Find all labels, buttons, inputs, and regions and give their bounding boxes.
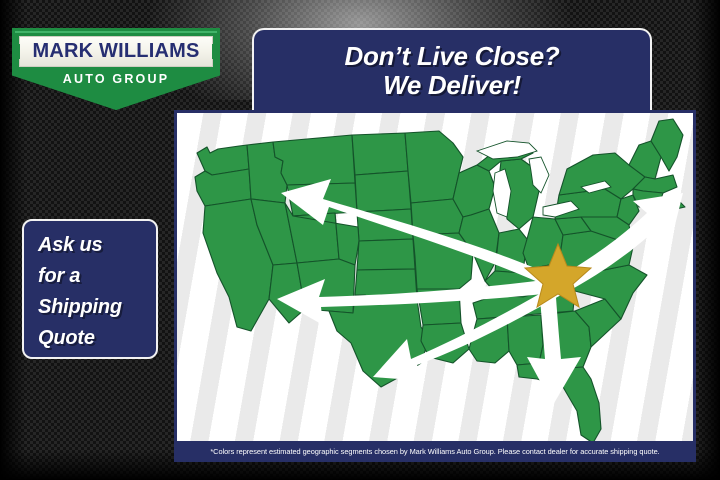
headline-line-2: We Deliver! xyxy=(383,71,521,100)
callout-line-2: for a xyxy=(38,261,156,292)
lake-superior xyxy=(477,141,537,159)
headline-line-1: Don’t Live Close? xyxy=(345,42,560,71)
usa-map xyxy=(177,113,693,459)
callout-line-3: Shipping xyxy=(38,292,156,323)
disclaimer-text: *Colors represent estimated geographic s… xyxy=(210,447,659,456)
logo-subtitle-text: AUTO GROUP xyxy=(12,72,220,86)
delivery-map-panel xyxy=(174,110,696,462)
map-regions xyxy=(195,119,685,443)
shipping-quote-callout[interactable]: Ask us for a Shipping Quote xyxy=(22,219,158,359)
callout-line-1: Ask us xyxy=(38,230,156,261)
promo-banner: MARK WILLIAMS AUTO GROUP Don’t Live Clos… xyxy=(0,0,720,480)
state-kansas xyxy=(357,239,415,270)
state-north-dakota xyxy=(352,133,408,175)
state-montana xyxy=(273,135,355,185)
logo-name-text: MARK WILLIAMS xyxy=(32,40,199,63)
callout-line-4: Quote xyxy=(38,323,156,354)
map-footer-disclaimer: *Colors represent estimated geographic s… xyxy=(174,441,696,462)
dealer-logo[interactable]: MARK WILLIAMS AUTO GROUP xyxy=(12,28,220,110)
logo-name-banner: MARK WILLIAMS xyxy=(19,36,213,67)
background-vignette-right xyxy=(694,0,720,480)
state-alabama xyxy=(507,315,543,365)
headline-panel: Don’t Live Close? We Deliver! xyxy=(252,28,652,110)
state-south-dakota xyxy=(355,171,411,212)
